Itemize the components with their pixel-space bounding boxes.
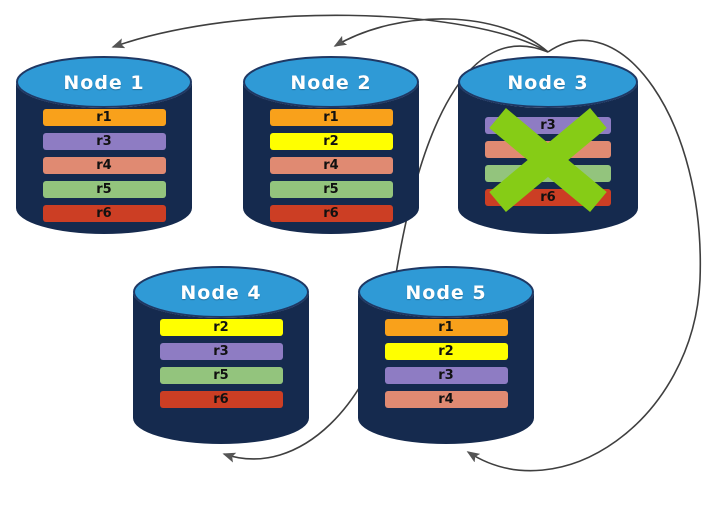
cylinder-top-ellipse — [459, 57, 637, 107]
edge-node3-to-node2 — [335, 19, 548, 52]
replica-label: r5 — [323, 183, 338, 196]
node-cylinder-2[interactable]: Node 2r1r2r4r5r6 — [243, 56, 419, 234]
replica-bar[interactable]: r6 — [270, 205, 393, 222]
replica-label: r2 — [323, 135, 338, 148]
replica-bar[interactable]: r1 — [270, 109, 393, 126]
replica-bar[interactable]: r5 — [43, 181, 166, 198]
replica-bar[interactable]: r2 — [160, 319, 283, 336]
node-cylinder-5[interactable]: Node 5r1r2r3r4 — [358, 266, 534, 444]
replica-bar[interactable]: r3 — [43, 133, 166, 150]
replica-label: r6 — [213, 393, 228, 406]
replica-bar[interactable]: r5 — [270, 181, 393, 198]
replica-bar[interactable]: r6 — [43, 205, 166, 222]
replica-bar[interactable]: r6 — [485, 189, 611, 206]
replica-bar[interactable]: r5 — [485, 165, 611, 182]
replica-label: r4 — [96, 159, 111, 172]
replica-label: r6 — [540, 191, 555, 204]
replica-list: r2r3r5r6 — [133, 319, 309, 415]
cylinder-top-ellipse — [359, 267, 533, 317]
cylinder-top-ellipse — [244, 57, 418, 107]
replica-label: r4 — [438, 393, 453, 406]
replica-bar[interactable]: r3 — [160, 343, 283, 360]
replica-bar[interactable]: r3 — [385, 367, 508, 384]
replica-bar[interactable]: r4 — [43, 157, 166, 174]
replica-label: r2 — [438, 345, 453, 358]
node-cylinder-3[interactable]: Node 3r3r4r5r6 — [458, 56, 638, 234]
replica-bar[interactable]: r1 — [43, 109, 166, 126]
node-cylinder-1[interactable]: Node 1r1r3r4r5r6 — [16, 56, 192, 234]
replica-bar[interactable]: r1 — [385, 319, 508, 336]
edge-node3-to-node1 — [113, 15, 548, 52]
diagram-canvas: Node 1r1r3r4r5r6Node 2r1r2r4r5r6Node 3r3… — [0, 0, 708, 508]
replica-label: r1 — [323, 111, 338, 124]
cylinder-top-ellipse — [17, 57, 191, 107]
replica-label: r5 — [213, 369, 228, 382]
replica-bar[interactable]: r2 — [270, 133, 393, 150]
replica-bar[interactable]: r4 — [385, 391, 508, 408]
replica-bar[interactable]: r2 — [385, 343, 508, 360]
replica-bar[interactable]: r5 — [160, 367, 283, 384]
replica-label: r1 — [96, 111, 111, 124]
replica-label: r5 — [540, 167, 555, 180]
replica-list: r1r2r3r4 — [358, 319, 534, 415]
cylinder-top-ellipse — [134, 267, 308, 317]
replica-label: r4 — [540, 143, 555, 156]
replica-label: r3 — [438, 369, 453, 382]
replica-bar[interactable]: r4 — [485, 141, 611, 158]
replica-label: r2 — [213, 321, 228, 334]
replica-label: r6 — [96, 207, 111, 220]
node-cylinder-4[interactable]: Node 4r2r3r5r6 — [133, 266, 309, 444]
replica-list: r1r3r4r5r6 — [16, 109, 192, 229]
replica-list: r1r2r4r5r6 — [243, 109, 419, 229]
replica-list: r3r4r5r6 — [458, 117, 638, 213]
replica-label: r3 — [96, 135, 111, 148]
replica-bar[interactable]: r4 — [270, 157, 393, 174]
replica-label: r3 — [213, 345, 228, 358]
replica-label: r6 — [323, 207, 338, 220]
replica-label: r3 — [540, 119, 555, 132]
replica-label: r1 — [438, 321, 453, 334]
replica-label: r4 — [323, 159, 338, 172]
replica-label: r5 — [96, 183, 111, 196]
replica-bar[interactable]: r6 — [160, 391, 283, 408]
replica-bar[interactable]: r3 — [485, 117, 611, 134]
